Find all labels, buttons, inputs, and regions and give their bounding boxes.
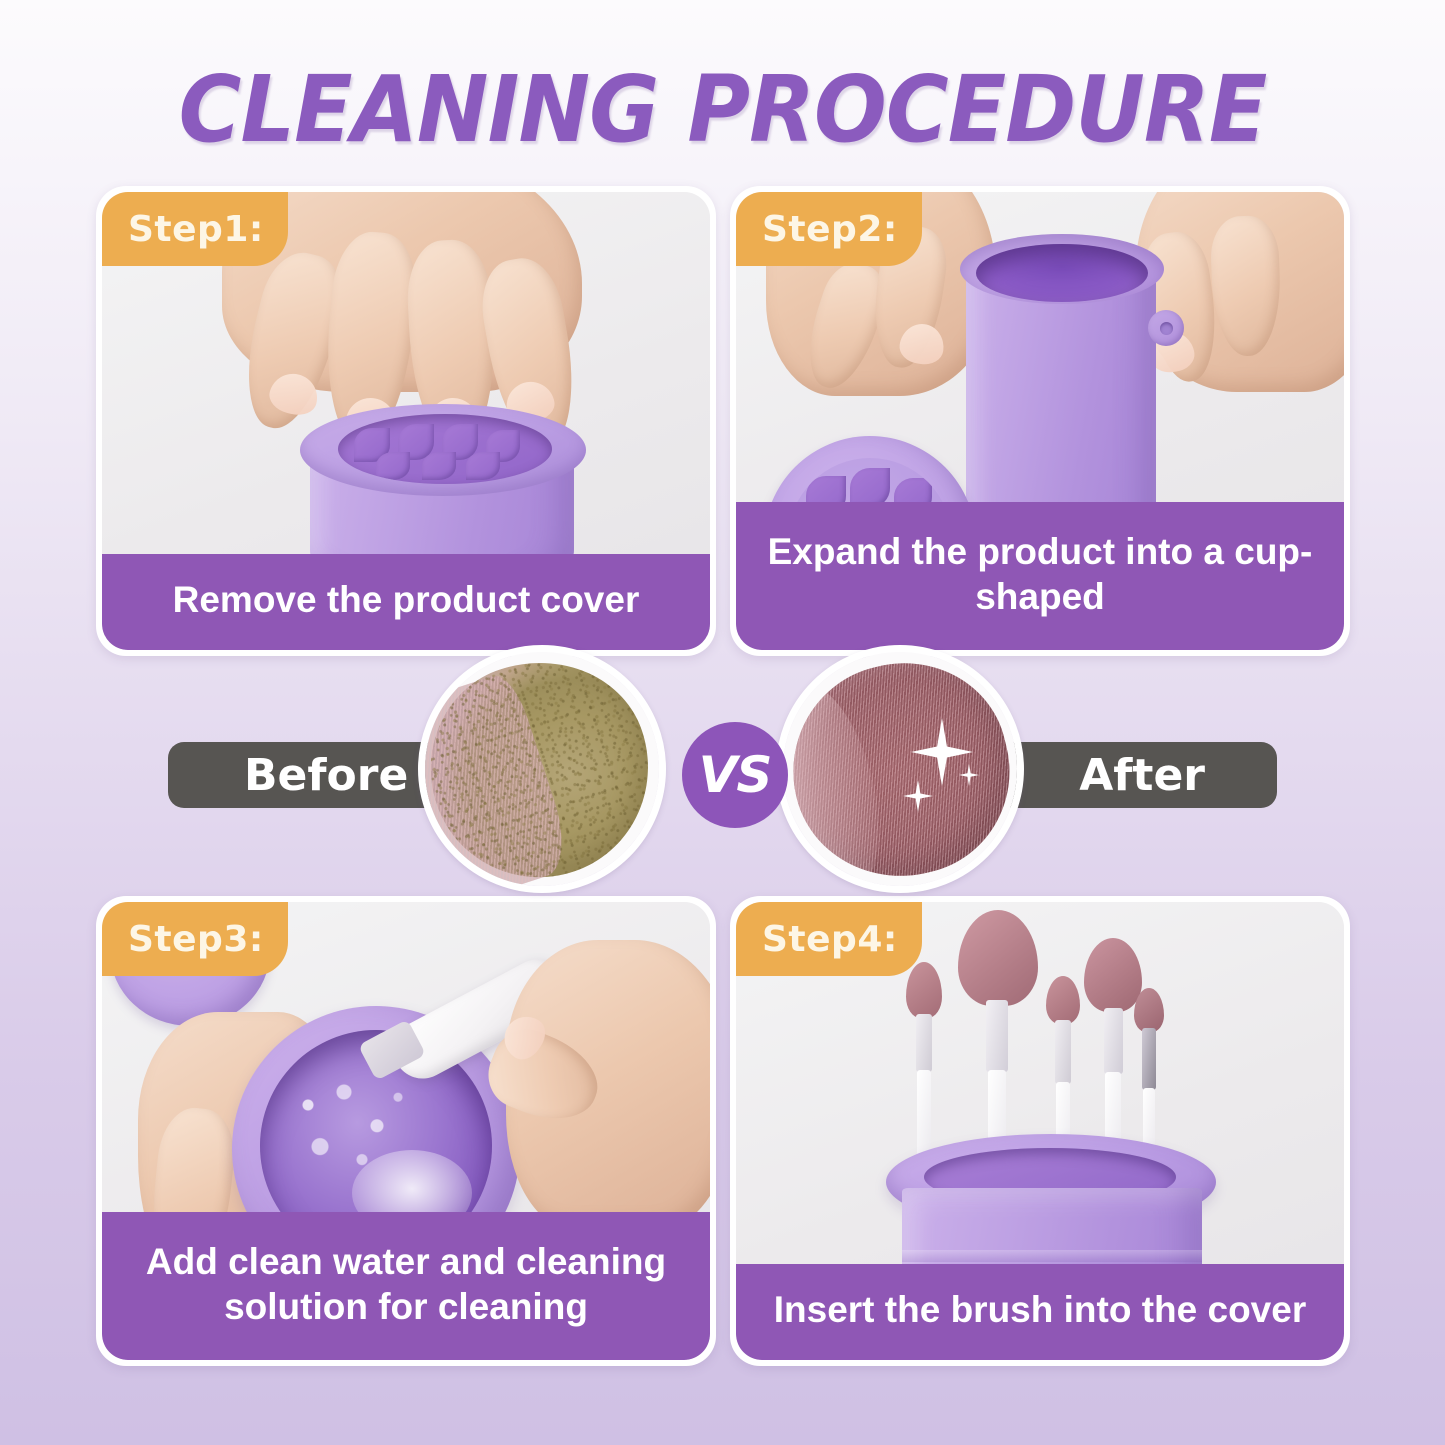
vs-label: VS: [699, 746, 772, 804]
step-caption-1: Remove the product cover: [102, 554, 710, 650]
step-badge-3: Step3:: [102, 902, 288, 976]
step-caption-3: Add clean water and cleaning solution fo…: [102, 1212, 710, 1360]
brush-ferrule: [986, 1000, 1008, 1072]
step-caption-2: Expand the product into a cup-shaped: [736, 502, 1344, 650]
cup-lid-holes: [338, 414, 552, 484]
brush-bristles: [1084, 938, 1142, 1012]
after-brush-photo: [776, 645, 1024, 893]
step-card-1: Step1: Remove the product cover: [96, 186, 716, 656]
brush-bristles: [958, 910, 1038, 1006]
step-badge-2-label: Step2:: [762, 209, 898, 250]
infographic-canvas: CLEANING PROCEDURE: [0, 0, 1445, 1445]
brush-ferrule: [1055, 1020, 1071, 1084]
step-card-2-inner: Step2: Expand the product into a cup-sha…: [736, 192, 1344, 650]
cup-interior: [976, 244, 1148, 302]
step-badge-4-label: Step4:: [762, 919, 898, 960]
clean-brush-head: [776, 645, 1024, 893]
after-label: After: [1079, 750, 1205, 801]
step-card-4-inner: Step4: Insert the brush into the cover: [736, 902, 1344, 1360]
brush-ferrule: [916, 1014, 932, 1072]
lid-petal: [466, 452, 500, 480]
cup-fold-ring: [902, 1250, 1202, 1262]
page-title: CLEANING PROCEDURE: [51, 56, 1395, 163]
brush-bristles: [1046, 976, 1080, 1024]
before-label: Before: [244, 750, 408, 801]
step-card-4: Step4: Insert the brush into the cover: [730, 896, 1350, 1366]
step-badge-3-label: Step3:: [128, 919, 264, 960]
step-badge-1: Step1:: [102, 192, 288, 266]
lid-petal: [376, 452, 410, 480]
step-card-1-inner: Step1: Remove the product cover: [102, 192, 710, 650]
cup-tab-hole: [1160, 322, 1173, 335]
brush-ferrule: [1104, 1008, 1123, 1074]
brush-bristles: [906, 962, 942, 1018]
step-badge-4: Step4:: [736, 902, 922, 976]
before-brush-photo: [418, 645, 666, 893]
vs-badge: VS: [682, 722, 788, 828]
brush-ferrule: [1142, 1028, 1156, 1090]
step-card-3: Step3: Add clean water and cleaning solu…: [96, 896, 716, 1366]
step-caption-4: Insert the brush into the cover: [736, 1264, 1344, 1360]
brush-bristles: [1134, 988, 1164, 1032]
step-badge-1-label: Step1:: [128, 209, 264, 250]
step-card-3-inner: Step3: Add clean water and cleaning solu…: [102, 902, 710, 1360]
step-card-2: Step2: Expand the product into a cup-sha…: [730, 186, 1350, 656]
lid-petal: [422, 452, 456, 480]
step-badge-2: Step2:: [736, 192, 922, 266]
